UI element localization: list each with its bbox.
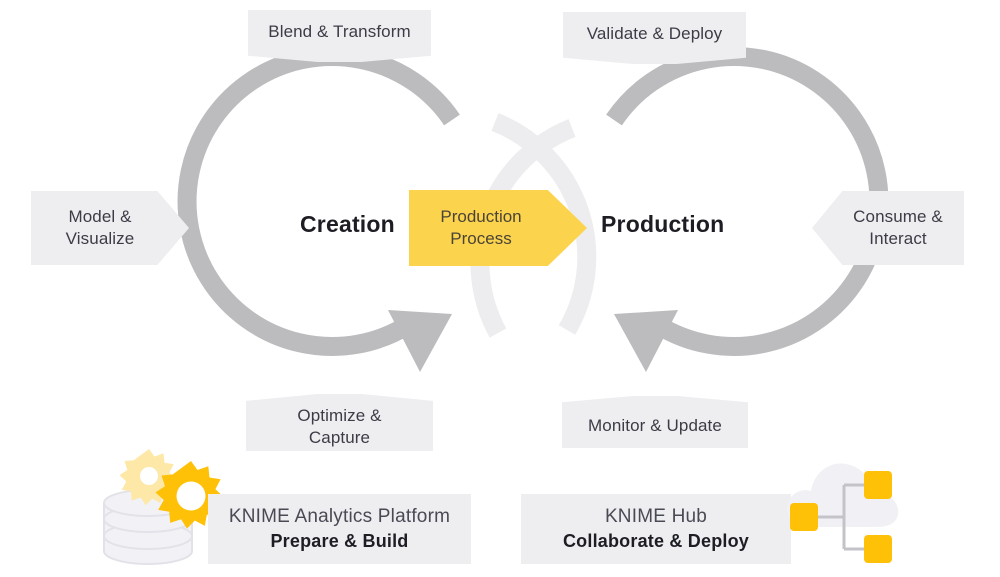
gear-small-faded xyxy=(120,449,177,505)
product-card-knime-hub[interactable]: KNIME Hub Collaborate & Deploy xyxy=(521,494,791,564)
node-connectors xyxy=(818,485,864,549)
stage-label-line2: Visualize xyxy=(66,228,135,250)
cloud-shape xyxy=(787,463,898,527)
stage-label-line2: Capture xyxy=(309,427,370,449)
stage-label-line2: Interact xyxy=(869,228,927,250)
production-process-arrow[interactable]: Production Process xyxy=(409,190,587,266)
stage-label-model-visualize[interactable]: Model & Visualize xyxy=(31,191,189,265)
cycle-rings xyxy=(0,0,1000,577)
product-tagline: Prepare & Build xyxy=(270,530,408,553)
cycle-title-creation: Creation xyxy=(300,211,395,238)
product-name: KNIME Analytics Platform xyxy=(229,505,450,530)
stage-label-text: Blend & Transform xyxy=(268,21,410,43)
cloud-nodes-icon xyxy=(778,441,908,571)
stage-label-optimize-capture[interactable]: Optimize & Capture xyxy=(246,394,433,451)
product-name: KNIME Hub xyxy=(605,505,707,530)
stage-label-monitor-update[interactable]: Monitor & Update xyxy=(562,396,748,448)
production-process-line1: Production xyxy=(440,206,521,228)
stage-label-line1: Consume & xyxy=(853,206,943,228)
product-card-knime-analytics-platform[interactable]: KNIME Analytics Platform Prepare & Build xyxy=(208,494,471,564)
stage-label-text: Monitor & Update xyxy=(588,415,722,437)
node-squares xyxy=(790,471,892,563)
stage-label-consume-interact[interactable]: Consume & Interact xyxy=(812,191,964,265)
infographic-canvas: Blend & Transform Validate & Deploy Mode… xyxy=(0,0,1000,577)
stage-label-validate-deploy[interactable]: Validate & Deploy xyxy=(563,12,746,64)
stage-label-blend-transform[interactable]: Blend & Transform xyxy=(248,10,431,62)
cycle-title-production: Production xyxy=(601,211,724,238)
stage-label-text: Validate & Deploy xyxy=(587,23,723,45)
stage-label-line1: Model & xyxy=(68,206,131,228)
stage-label-line1: Optimize & xyxy=(297,405,381,427)
product-tagline: Collaborate & Deploy xyxy=(563,530,749,553)
production-process-line2: Process xyxy=(450,228,511,250)
